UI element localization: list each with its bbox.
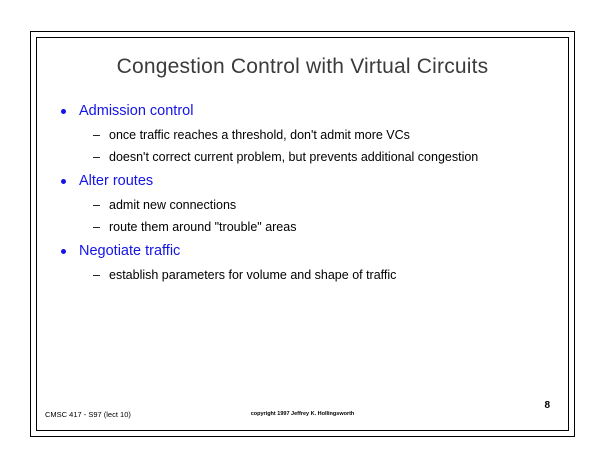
bullet-heading-label: Negotiate traffic — [79, 243, 180, 259]
sub-bullet-item: – establish parameters for volume and sh… — [49, 264, 558, 286]
bullet-heading-label: Admission control — [79, 103, 193, 119]
bullet-dot-icon — [61, 109, 66, 114]
slide-title: Congestion Control with Virtual Circuits — [37, 55, 568, 79]
sub-bullet-item: – doesn't correct current problem, but p… — [49, 146, 558, 168]
bullet-heading-label: Alter routes — [79, 173, 153, 189]
bullet-dot-icon — [61, 179, 66, 184]
dash-marker-icon: – — [93, 146, 100, 168]
slide-outer-frame: Congestion Control with Virtual Circuits… — [30, 31, 575, 437]
bullet-group: Alter routes – admit new connections – r… — [49, 170, 558, 238]
dash-marker-icon: – — [93, 216, 100, 238]
bullet-heading-admission-control: Admission control — [49, 100, 558, 123]
dash-marker-icon: – — [93, 124, 100, 146]
sub-bullet-label: route them around "trouble" areas — [109, 220, 296, 234]
footer-page-number: 8 — [544, 400, 550, 411]
footer-copyright-label: copyright 1997 Jeffrey K. Hollingsworth — [43, 411, 562, 417]
sub-bullet-item: – once traffic reaches a threshold, don'… — [49, 124, 558, 146]
bullet-group: Negotiate traffic – establish parameters… — [49, 240, 558, 286]
sub-bullet-label: admit new connections — [109, 198, 236, 212]
slide-footer: CMSC 417 - S97 (lect 10) copyright 1997 … — [43, 408, 562, 424]
dash-marker-icon: – — [93, 264, 100, 286]
sub-bullet-label: doesn't correct current problem, but pre… — [109, 150, 478, 164]
sub-bullet-label: once traffic reaches a threshold, don't … — [109, 128, 410, 142]
dash-marker-icon: – — [93, 194, 100, 216]
bullet-heading-negotiate-traffic: Negotiate traffic — [49, 240, 558, 263]
sub-bullet-item: – admit new connections — [49, 194, 558, 216]
bullet-dot-icon — [61, 249, 66, 254]
bullet-group: Admission control – once traffic reaches… — [49, 100, 558, 168]
bullet-heading-alter-routes: Alter routes — [49, 170, 558, 193]
sub-bullet-label: establish parameters for volume and shap… — [109, 268, 396, 282]
sub-bullet-item: – route them around "trouble" areas — [49, 216, 558, 238]
slide-inner-frame: Congestion Control with Virtual Circuits… — [36, 37, 569, 431]
slide-content-body: Admission control – once traffic reaches… — [49, 100, 558, 288]
